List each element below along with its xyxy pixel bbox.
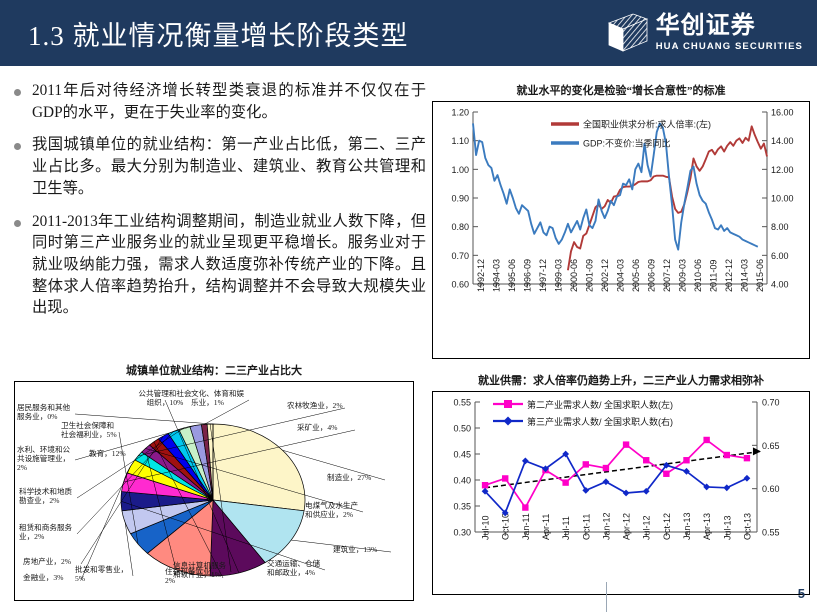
x-axis-tick: Jan-13: [682, 512, 692, 540]
chart-title: 就业水平的变化是检验“增长合意性”的标准: [432, 82, 810, 98]
x-axis-tick: 2006-09: [646, 259, 656, 292]
brand-logo: 华创证券 HUA CHUANG SECURITIES: [607, 10, 803, 56]
series-marker: [502, 475, 508, 481]
x-axis-tick: 2014-03: [739, 259, 749, 292]
x-axis-tick: Oct-10: [501, 513, 511, 540]
x-axis-tick: 2002-12: [600, 259, 610, 292]
pie-slice-label: 居民服务和其他服务业，0%: [17, 402, 71, 421]
chart-sector-demand-ratio: 就业供需：求人倍率仍趋势上升，二三产业人力需求相弥补 0.300.350.400…: [432, 372, 810, 594]
y-axis-tick-left: 0.60: [451, 280, 469, 290]
list-item: 2011-2013年工业结构调整期间，制造业就业人数下降，但同时第三产业服务业的…: [14, 211, 426, 320]
y-axis-tick-right: 16.00: [771, 108, 794, 118]
x-axis-tick: 2007-12: [662, 259, 672, 292]
legend-label: 第三产业需求人数/ 全国求职人数(右): [527, 416, 673, 427]
chart-plot-area: 制造业，27%建筑业，13%公共管理和社会组织，10%教育，12%卫生社会保障和…: [14, 381, 414, 601]
bullet-text: 2011年后对待经济增长转型类衰退的标准并不仅仅在于GDP的水平，更在于失业率的…: [32, 80, 426, 123]
x-axis-tick: Oct-13: [742, 513, 752, 540]
chart-title: 就业供需：求人倍率仍趋势上升，二三产业人力需求相弥补: [432, 372, 810, 388]
bullet-list: 2011年后对待经济增长转型类衰退的标准并不仅仅在于GDP的水平，更在于失业率的…: [14, 80, 426, 330]
pie-slice-label: 交通运输、仓储和邮政业，4%: [267, 558, 321, 577]
pie-slice-label: 建筑业，13%: [333, 544, 378, 554]
logo-english-text: HUA CHUANG SECURITIES: [656, 41, 803, 52]
series-marker: [744, 475, 751, 482]
series-marker: [663, 471, 669, 477]
pie-slice-label: 文化、体育和娱乐业，1%: [191, 388, 245, 407]
pie-slice-label: 电煤气及水生产和供应业，2%: [305, 500, 359, 519]
series-line: [485, 440, 747, 508]
pie-slice-label: 采矿业，4%: [297, 422, 338, 432]
y-axis-tick-left: 0.90: [451, 194, 469, 204]
x-axis-tick: 2004-03: [616, 259, 626, 292]
y-axis-tick-right: 0.70: [762, 398, 780, 408]
legend-label: GDP:不变价:当季同比: [583, 138, 671, 149]
bullet-dot-icon: [14, 143, 21, 150]
footer-divider: [606, 582, 607, 612]
bullet-dot-icon: [14, 220, 21, 227]
x-axis-tick: 2010-06: [693, 259, 703, 292]
x-axis-tick: Jul-13: [722, 515, 732, 540]
series-marker: [744, 455, 750, 461]
y-axis-tick-left: 1.20: [451, 108, 469, 118]
pie-slice-label: 水利、环境和公共设施管理业，2%: [17, 444, 71, 472]
logo-chinese-text: 华创证券: [656, 14, 756, 38]
y-axis-tick-right: 12.00: [771, 165, 794, 175]
y-axis-tick-left: 0.30: [453, 528, 471, 538]
chart-plot-area: 0.300.350.400.450.500.550.550.600.650.70…: [432, 391, 810, 595]
pie-slice: [213, 424, 305, 511]
chart-urban-employment-structure: 城镇单位就业结构：二三产业占比大 制造业，27%建筑业，13%公共管理和社会组织…: [14, 362, 414, 600]
cube-logo-icon: [607, 13, 649, 53]
y-axis-tick-right: 6.00: [771, 251, 789, 261]
list-item: 2011年后对待经济增长转型类衰退的标准并不仅仅在于GDP的水平，更在于失业率的…: [14, 80, 426, 123]
x-axis-tick: 1994-03: [492, 259, 502, 292]
series-marker: [522, 504, 528, 510]
y-axis-tick-left: 0.80: [451, 222, 469, 232]
y-axis-tick-right: 14.00: [771, 136, 794, 146]
x-axis-tick: 1992-12: [476, 259, 486, 292]
y-axis-tick-left: 1.00: [451, 165, 469, 175]
chart-title: 城镇单位就业结构：二三产业占比大: [14, 362, 414, 378]
pie-slice-label: 房地产业，2%: [23, 556, 72, 566]
x-axis-tick: 2009-03: [677, 259, 687, 292]
bullet-text: 我国城镇单位的就业结构：第一产业占比低，第二、三产业占比多。最大分别为制造业、建…: [32, 134, 426, 199]
pie-slice-label: 信息计算机服务和软件业，1%: [173, 560, 227, 579]
x-axis-tick: 2001-09: [585, 259, 595, 292]
pie-slice-label: 公共管理和社会组织，10%: [138, 388, 192, 407]
y-axis-tick-left: 0.40: [453, 476, 471, 486]
pie-slice-label: 金融业，3%: [23, 572, 64, 582]
series-marker: [723, 484, 730, 491]
series-marker: [724, 452, 730, 458]
x-axis-tick: Jul-12: [642, 515, 652, 540]
series-marker: [643, 457, 649, 463]
series-marker: [482, 482, 488, 488]
slide-header: 1.3 就业情况衡量增长阶段类型 华创证券 HUA CHUANG SECURIT…: [0, 0, 817, 66]
x-axis-tick: Jul-11: [561, 516, 571, 540]
trendline: [485, 451, 761, 487]
series-marker: [583, 461, 589, 467]
x-axis-tick: 1999-03: [554, 259, 564, 292]
y-axis-tick-left: 0.70: [451, 251, 469, 261]
legend-label: 全国职业供求分析:求人倍率:(左): [583, 119, 711, 130]
series-marker: [703, 437, 709, 443]
x-axis-tick: Apr-12: [622, 513, 632, 540]
y-axis-tick-right: 10.00: [771, 194, 794, 204]
pie-slice-label: 科学技术和地质勘查业，2%: [19, 486, 73, 505]
y-axis-tick-left: 0.55: [453, 398, 471, 408]
y-axis-tick-right: 0.55: [762, 528, 780, 538]
series-marker: [522, 458, 529, 465]
x-axis-tick: 2015-06: [755, 259, 765, 292]
series-marker: [582, 487, 589, 494]
y-axis-tick-right: 8.00: [771, 222, 789, 232]
page-title: 1.3 就业情况衡量增长阶段类型: [28, 14, 409, 53]
pie-slice-label: 卫生社会保障和社会福利业，5%: [61, 420, 117, 439]
y-axis-tick-left: 0.50: [453, 424, 471, 434]
list-item: 我国城镇单位的就业结构：第一产业占比低，第二、三产业占比多。最大分别为制造业、建…: [14, 134, 426, 199]
series-marker: [623, 490, 630, 497]
x-axis-tick: 1995-06: [507, 259, 517, 292]
series-marker: [683, 457, 689, 463]
x-axis-tick: 2005-06: [631, 259, 641, 292]
chart-employment-vs-gdp: 就业水平的变化是检验“增长合意性”的标准 0.600.700.800.901.0…: [432, 82, 810, 358]
x-axis-tick: 2000-06: [569, 259, 579, 292]
y-axis-tick-left: 1.10: [451, 136, 469, 146]
x-axis-tick: Oct-11: [581, 514, 591, 540]
x-axis-tick: Apr-13: [702, 513, 712, 540]
series-marker: [562, 479, 568, 485]
x-axis-tick: 2012-12: [724, 259, 734, 292]
x-axis-tick: 1997-12: [538, 259, 548, 292]
x-axis-tick: 2011-09: [708, 260, 718, 292]
x-axis-tick: Oct-12: [662, 513, 672, 540]
pie-slice-label: 制造业，27%: [327, 472, 372, 482]
bullet-dot-icon: [14, 89, 21, 96]
legend-label: 第二产业需求人数/ 全国求职人数(左): [527, 399, 673, 410]
x-axis-tick: 1996-09: [523, 259, 533, 292]
y-axis-tick-left: 0.45: [453, 450, 471, 460]
legend-marker: [504, 417, 513, 426]
y-axis-tick-right: 0.60: [762, 484, 780, 494]
pie-slice-label: 批发和零售业，5%: [75, 564, 128, 583]
x-axis-tick: Jan-12: [601, 512, 611, 540]
legend-marker: [504, 400, 512, 408]
chart-plot-area: 0.600.700.800.901.001.101.204.006.008.00…: [432, 101, 810, 359]
x-axis-tick: Jan-11: [521, 513, 531, 540]
pie-slice-label: 农林牧渔业，2%: [287, 400, 343, 410]
series-marker: [603, 465, 609, 471]
y-axis-tick-right: 0.65: [762, 441, 780, 451]
x-axis-tick: Jul-10: [481, 515, 491, 540]
y-axis-tick-right: 4.00: [771, 280, 789, 290]
pie-slice-label: 教育，12%: [89, 448, 126, 458]
page-number: 5: [798, 586, 805, 601]
bullet-text: 2011-2013年工业结构调整期间，制造业就业人数下降，但同时第三产业服务业的…: [32, 211, 426, 320]
x-axis-tick: Apr-11: [541, 514, 551, 540]
series-marker: [623, 441, 629, 447]
pie-slice-label: 租赁和商务服务业，2%: [19, 522, 73, 541]
pie-leader-line: [81, 466, 131, 580]
y-axis-tick-left: 0.35: [453, 502, 471, 512]
series-marker: [603, 478, 610, 485]
